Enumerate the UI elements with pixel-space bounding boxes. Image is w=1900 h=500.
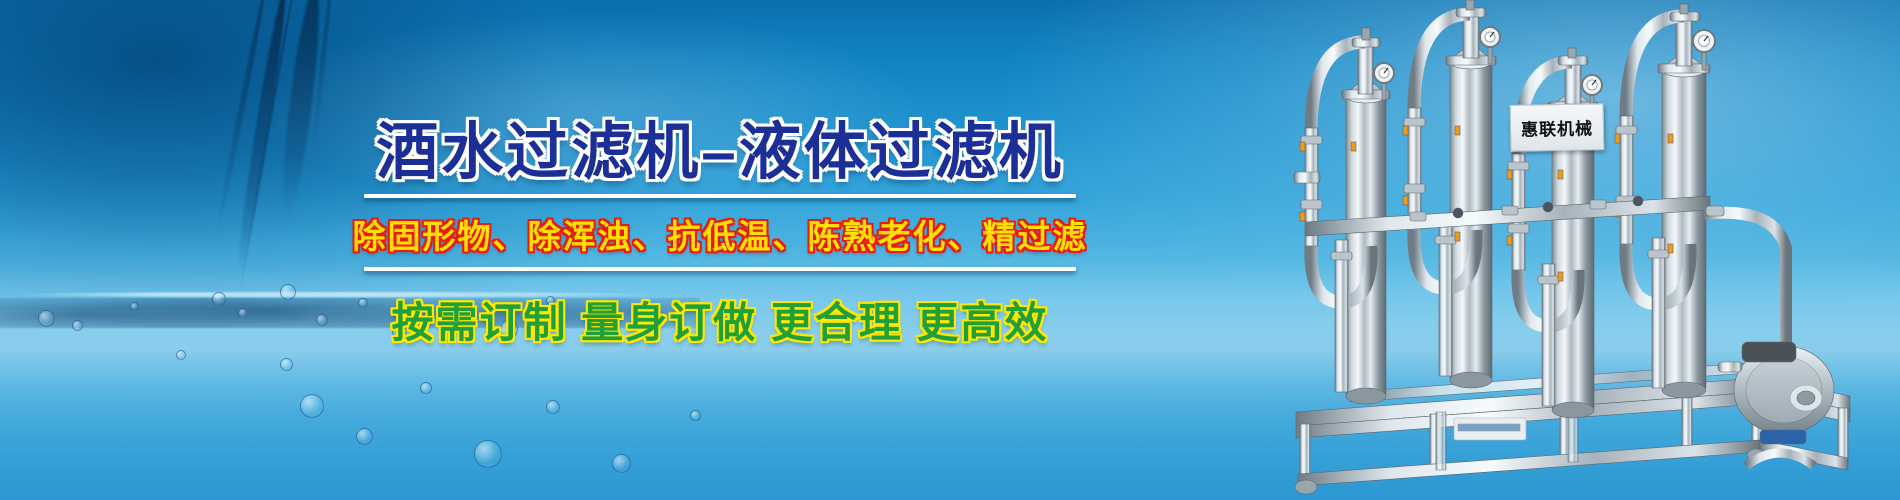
tagline-text: 按需订制 量身订做 更合理 更高效 <box>350 289 1090 350</box>
lower-bubbles-graphic <box>260 370 780 490</box>
promo-banner: 酒水过滤机–液体过滤机 除固形物、除浑浊、抗低温、陈熟老化、精过滤 按需订制 量… <box>0 0 1900 500</box>
product-machine-illustration <box>1290 0 1900 500</box>
brand-nameplate-label: 惠联机械 <box>1521 114 1593 140</box>
divider-line-top <box>364 194 1076 198</box>
brand-nameplate: 惠联机械 <box>1510 103 1605 152</box>
headline-copy-block: 酒水过滤机–液体过滤机 除固形物、除浑浊、抗低温、陈熟老化、精过滤 按需订制 量… <box>350 120 1090 350</box>
page-title: 酒水过滤机–液体过滤机 <box>350 120 1090 186</box>
divider-line-bottom <box>364 267 1076 271</box>
feature-list-text: 除固形物、除浑浊、抗低温、陈熟老化、精过滤 <box>350 210 1090 258</box>
